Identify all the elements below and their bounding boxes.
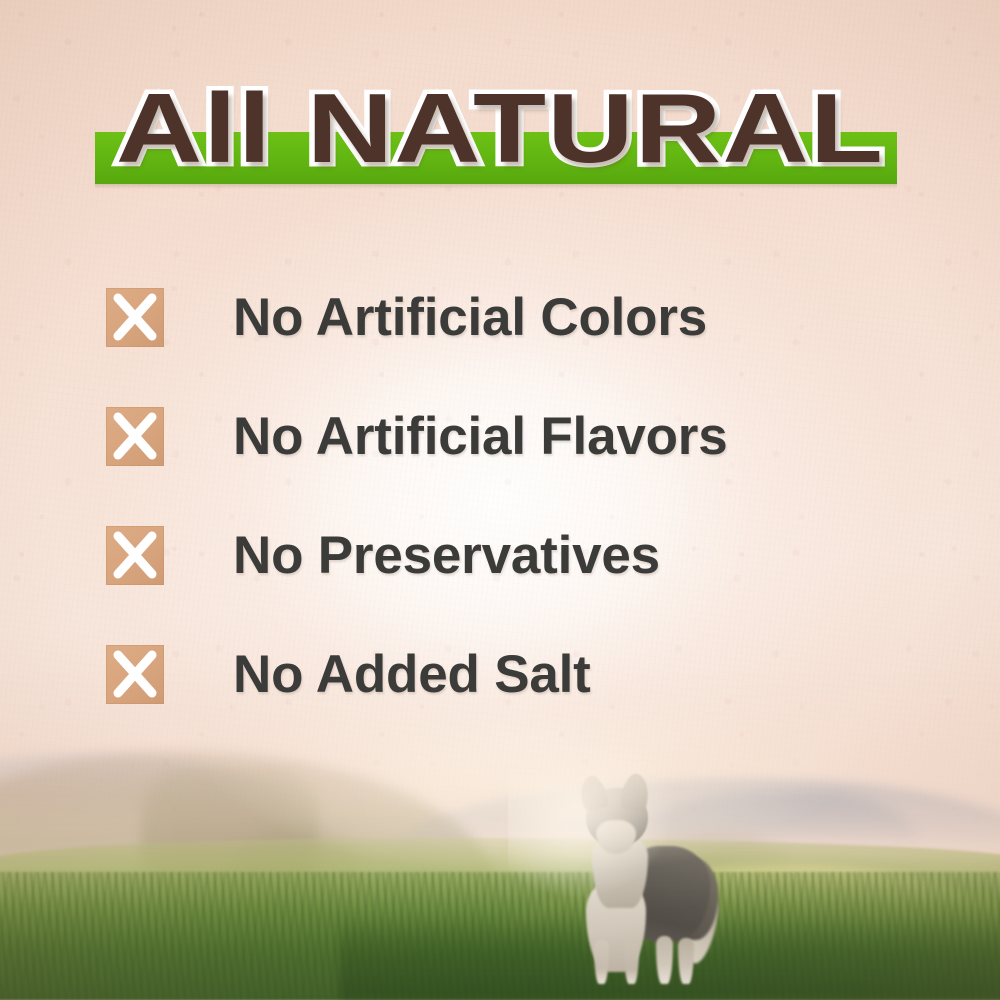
title-banner: All NATURAL <box>0 72 1000 196</box>
list-item: No Preservatives <box>106 496 916 615</box>
feature-label: No Artificial Colors <box>233 291 916 344</box>
feature-label: No Preservatives <box>233 529 916 582</box>
list-item: No Artificial Flavors <box>106 377 916 496</box>
x-mark-icon <box>106 288 164 347</box>
all-natural-product-poster: All NATURAL No Artificial Colors No Arti… <box>0 0 1000 1000</box>
x-mark-icon <box>106 526 164 585</box>
list-item: No Artificial Colors <box>106 258 916 377</box>
feature-label: No Artificial Flavors <box>233 410 916 463</box>
feature-list: No Artificial Colors No Artificial Flavo… <box>106 258 916 734</box>
x-mark-icon <box>106 407 164 466</box>
list-item: No Added Salt <box>106 615 916 734</box>
page-title: All NATURAL <box>0 72 1000 184</box>
title-band-shadow <box>95 184 897 189</box>
feature-label: No Added Salt <box>233 648 916 701</box>
x-mark-icon <box>106 645 164 704</box>
